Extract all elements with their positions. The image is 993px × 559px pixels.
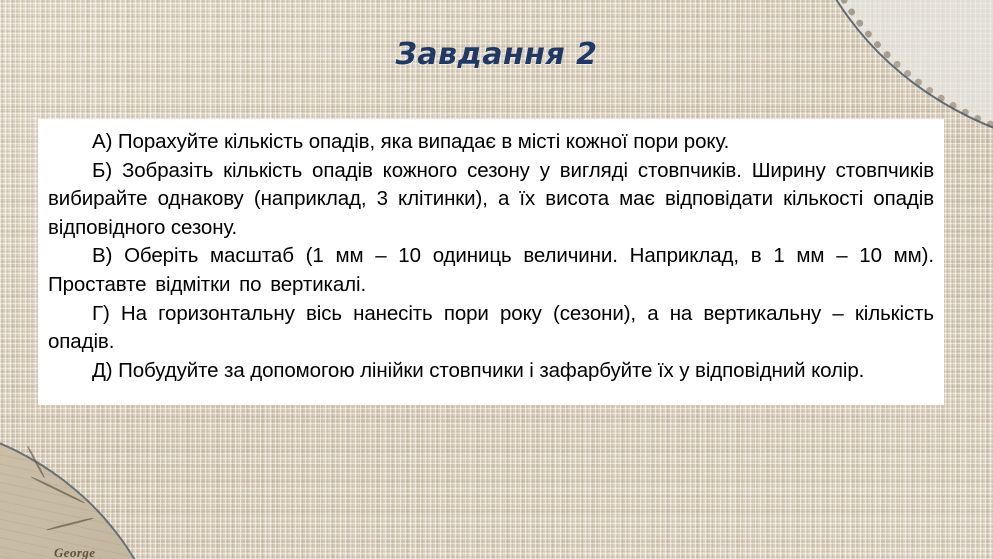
page-title: Завдання 2 bbox=[0, 37, 993, 73]
slide-canvas: George Town Aylesbury Завдання 2 А) Пора… bbox=[0, 0, 993, 559]
task-item-g: Г) На горизонтальну вісь нанесіть пори р… bbox=[48, 300, 934, 357]
task-text-card: А) Порахуйте кількість опадів, яка випад… bbox=[38, 119, 944, 405]
task-item-a: А) Порахуйте кількість опадів, яка випад… bbox=[48, 128, 934, 157]
task-item-v: В) Оберіть масштаб (1 мм – 10 одиниць ве… bbox=[48, 242, 934, 299]
task-item-b: Б) Зобразіть кількість опадів кожного се… bbox=[48, 157, 934, 243]
task-item-d: Д) Побудуйте за допомогою лінійки стовпч… bbox=[48, 357, 934, 386]
